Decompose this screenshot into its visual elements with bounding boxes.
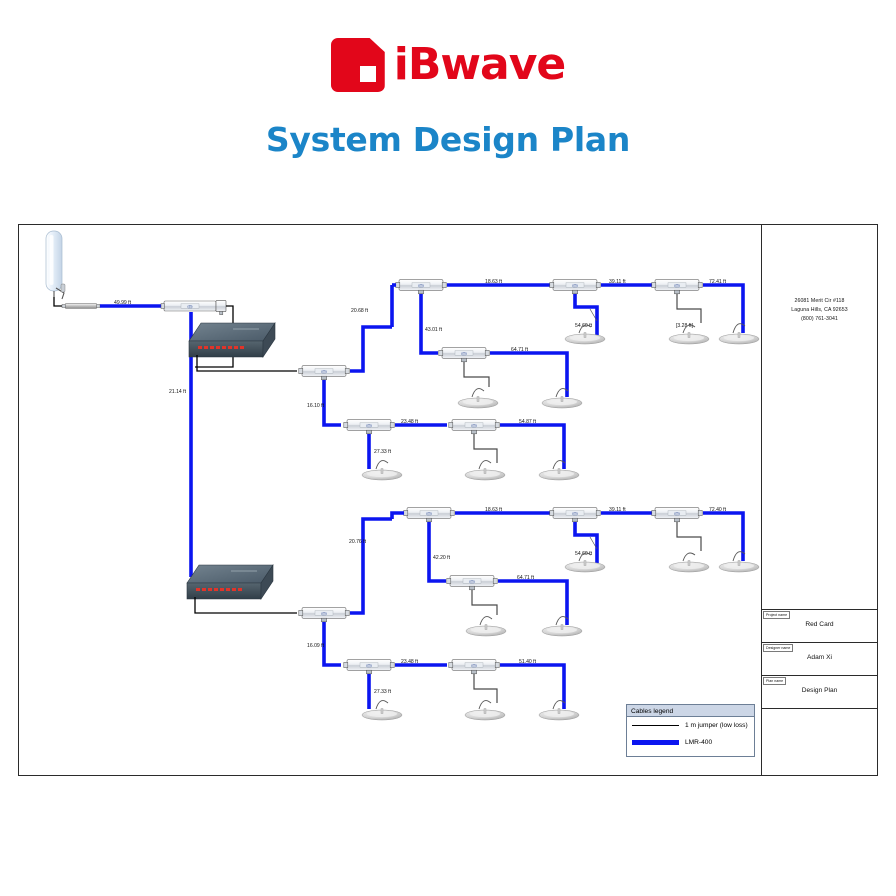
ceiling-omni-antenna[interactable] <box>458 397 498 409</box>
ceiling-omni-antenna[interactable] <box>565 561 605 573</box>
cable-lmr400 <box>350 327 392 371</box>
tap-coupler[interactable] <box>550 508 600 522</box>
ceiling-omni-antenna[interactable] <box>465 709 505 721</box>
page-title: System Design Plan <box>0 120 896 159</box>
ceiling-omni-antenna[interactable] <box>719 561 759 573</box>
title-block: 26081 Merit Cir #118 Laguna Hills, CA 92… <box>761 225 877 775</box>
legend-item-jumper: 1 m jumper (low loss) <box>627 717 754 734</box>
brand-name: iBwave <box>394 43 565 87</box>
cable-label: 23.48 ft <box>401 659 419 665</box>
cable-label: 64.71 ft <box>511 347 529 353</box>
page-header: iBwave System Design Plan <box>0 0 896 159</box>
cable-jumper <box>472 590 497 615</box>
cable-lmr400 <box>703 285 743 333</box>
company-address: 26081 Merit Cir #118 Laguna Hills, CA 92… <box>762 297 877 324</box>
tap-coupler[interactable] <box>344 420 394 434</box>
ceiling-omni-antenna[interactable] <box>539 469 579 481</box>
ceiling-omni-antenna[interactable] <box>565 333 605 345</box>
cable-lmr400 <box>498 581 567 625</box>
repeater-device[interactable] <box>187 565 273 599</box>
cable-label: 20.76 ft <box>349 539 367 545</box>
cable-lmr400 <box>421 294 438 353</box>
tap-coupler[interactable] <box>299 608 349 622</box>
power-splitter[interactable] <box>161 300 226 314</box>
cable-label: 16.10 ft <box>307 403 325 409</box>
drawing-sheet: ((i)) <box>18 224 878 776</box>
ceiling-omni-antenna[interactable] <box>669 333 709 345</box>
cable-label: 18.63 ft <box>485 279 503 285</box>
titleblock-tag-project: Project name <box>763 611 790 619</box>
legend-label-lmr400: LMR-400 <box>685 739 712 746</box>
cable-jumper <box>195 597 297 613</box>
brand-logo: iBwave <box>0 34 896 96</box>
cable-lmr400 <box>350 519 392 613</box>
legend-label-jumper: 1 m jumper (low loss) <box>685 722 748 729</box>
cable-label: 64.71 ft <box>517 575 535 581</box>
cable-label: 43.01 ft <box>425 327 443 333</box>
tap-coupler[interactable] <box>449 420 499 434</box>
tap-coupler[interactable] <box>396 280 446 294</box>
repeater-device[interactable] <box>189 323 275 357</box>
cable-lmr400 <box>500 425 564 469</box>
legend-swatch-lmr400 <box>632 740 679 745</box>
ceiling-omni-antenna[interactable] <box>719 333 759 345</box>
cable-jumper <box>474 434 497 463</box>
cable-label: 18.63 ft <box>485 507 503 513</box>
cable-label: 72.40 ft <box>709 507 727 513</box>
cable-label: 23.48 ft <box>401 419 419 425</box>
donor-panel-antenna[interactable] <box>46 231 65 299</box>
cable-jumper <box>677 522 701 551</box>
cable-label: 21.14 ft <box>169 389 187 395</box>
cable-label: 39.11 ft <box>609 279 626 285</box>
ceiling-omni-antenna[interactable] <box>539 709 579 721</box>
cable-label: 54.87 ft <box>519 419 537 425</box>
cable-label: 39.11 ft <box>609 507 626 513</box>
cable-label: 72.41 ft <box>709 279 727 285</box>
titleblock-tag-plan: Plan name <box>763 677 786 685</box>
ceiling-omni-antenna[interactable] <box>669 561 709 573</box>
cable-label: 27.33 ft <box>374 449 392 455</box>
tap-coupler[interactable] <box>652 508 702 522</box>
ceiling-omni-antenna[interactable] <box>362 469 402 481</box>
legend-item-lmr400: LMR-400 <box>627 734 754 751</box>
titleblock-divider <box>762 708 877 709</box>
cable-jumper <box>197 355 297 371</box>
network-diagram: ((i)) <box>19 225 763 775</box>
tap-coupler[interactable] <box>449 660 499 674</box>
tap-coupler[interactable] <box>550 280 600 294</box>
tap-coupler[interactable] <box>299 366 349 380</box>
cables-legend: Cables legend 1 m jumper (low loss) LMR-… <box>626 704 755 757</box>
cable-lmr400 <box>324 622 341 665</box>
titleblock-field-project: Project name Red Card <box>762 609 877 642</box>
address-line-1: 26081 Merit Cir #118 <box>762 297 877 306</box>
titleblock-tag-designer: Designer name <box>763 644 793 652</box>
ceiling-omni-antenna[interactable] <box>466 625 506 637</box>
ibwave-logo-icon <box>331 38 385 92</box>
cable-lmr400 <box>392 513 404 519</box>
ceiling-omni-antenna[interactable] <box>362 709 402 721</box>
cable-label: 20.68 ft <box>351 308 369 314</box>
ceiling-omni-antenna[interactable] <box>542 625 582 637</box>
tap-coupler[interactable] <box>439 348 489 362</box>
cable-lmr400 <box>324 380 341 425</box>
address-line-3: (800) 761-3041 <box>762 315 877 324</box>
cable-lmr400 <box>703 513 743 561</box>
tap-coupler[interactable] <box>404 508 454 522</box>
cable-label: 49.99 ft <box>114 300 132 306</box>
cable-label: 27.33 ft <box>374 689 392 695</box>
tap-coupler[interactable] <box>447 576 497 590</box>
cable-lmr400 <box>429 522 446 581</box>
cable-label: 16.09 ft <box>307 643 325 649</box>
cable-jumper <box>474 674 497 703</box>
tap-coupler[interactable] <box>344 660 394 674</box>
legend-title: Cables legend <box>627 705 754 717</box>
legend-swatch-jumper <box>632 725 679 727</box>
cable-jumper <box>464 362 489 387</box>
ceiling-omni-antenna[interactable] <box>465 469 505 481</box>
cable-lmr400 <box>500 665 564 709</box>
tap-coupler[interactable] <box>652 280 702 294</box>
jumper-connector[interactable] <box>62 304 100 309</box>
cable-label: 42.20 ft <box>433 555 451 561</box>
cable-lmr400 <box>490 353 567 397</box>
address-line-2: Laguna Hills, CA 92653 <box>762 306 877 315</box>
titleblock-field-plan: Plan name Design Plan <box>762 675 877 708</box>
titleblock-field-designer: Designer name Adam Xi <box>762 642 877 675</box>
ceiling-omni-antenna[interactable] <box>542 397 582 409</box>
cable-jumper <box>677 294 701 323</box>
cable-label: 51.40 ft <box>519 659 537 665</box>
